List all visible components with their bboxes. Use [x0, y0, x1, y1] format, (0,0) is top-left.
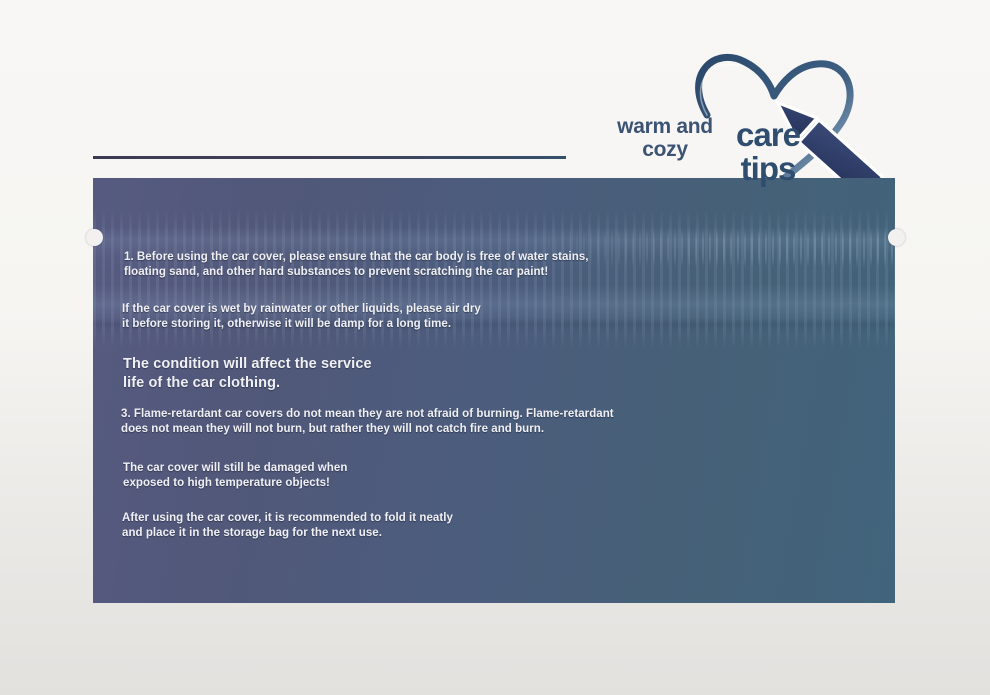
tip-item-service-life: The condition will affect the service li… [123, 355, 643, 392]
tip-item-flame-retardant: 3. Flame-retardant car covers do not mea… [121, 407, 781, 437]
care-tips-panel: 1. Before using the car cover, please en… [93, 178, 895, 603]
header-title-care-tips: care tips [688, 118, 848, 185]
header-divider-rule [93, 156, 566, 159]
tips-list: 1. Before using the car cover, please en… [93, 178, 895, 603]
tip-item-storage-bag: After using the car cover, it is recomme… [122, 511, 682, 541]
panel-notch-left [86, 229, 103, 246]
tip-item-water-stains: 1. Before using the car cover, please en… [124, 250, 764, 280]
panel-notch-right [888, 229, 905, 246]
tip-item-air-dry: If the car cover is wet by rainwater or … [122, 302, 682, 332]
tip-item-high-temperature: The car cover will still be damaged when… [123, 461, 603, 491]
